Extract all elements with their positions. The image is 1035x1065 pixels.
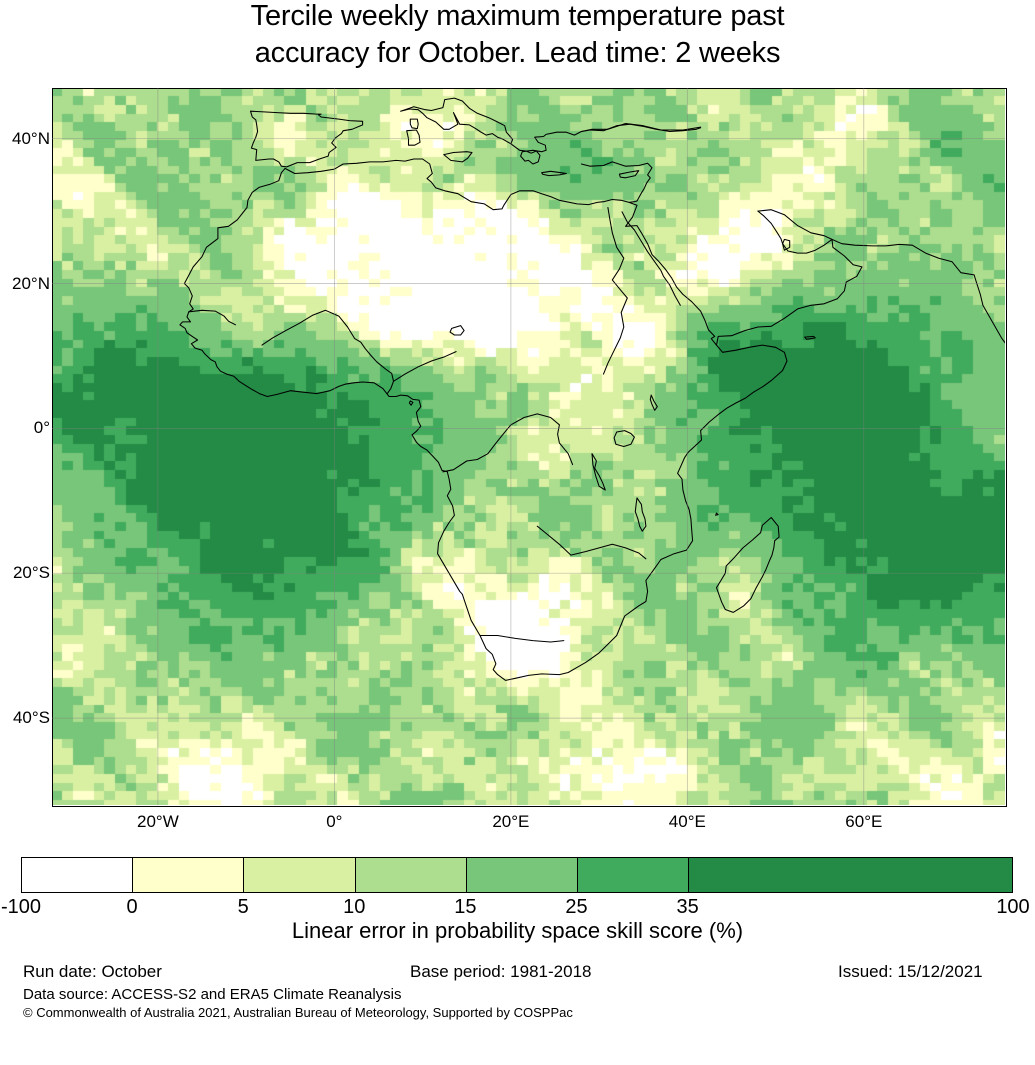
footer-issued-date: Issued: 15/12/2021 — [838, 962, 983, 982]
colorbar-segment — [132, 858, 243, 892]
graticule-gridlines — [52, 88, 1005, 805]
footer-base-period: Base period: 1981-2018 — [410, 962, 591, 982]
latitude-tick-label: 40°S — [0, 708, 50, 728]
footer-data-source: Data source: ACCESS-S2 and ERA5 Climate … — [23, 986, 402, 1003]
colorbar-label: Linear error in probability space skill … — [0, 918, 1035, 944]
colorbar-tick-label: -100 — [0, 896, 71, 919]
page-title-line-2: accuracy for October. Lead time: 2 weeks — [0, 35, 1035, 72]
longitude-tick-label: 20°E — [466, 812, 556, 832]
colorbar-tick-label: 15 — [415, 896, 515, 919]
colorbar-tick-label: 100 — [963, 896, 1035, 919]
longitude-tick-label: 40°E — [642, 812, 732, 832]
longitude-tick-label: 0° — [289, 812, 379, 832]
colorbar-segment — [22, 858, 132, 892]
colorbar-segment — [466, 858, 577, 892]
latitude-tick-label: 40°N — [0, 129, 50, 149]
colorbar-tick-label: 25 — [527, 896, 627, 919]
longitude-tick-label: 20°W — [113, 812, 203, 832]
colorbar-tick-label: 10 — [304, 896, 404, 919]
page-title: Tercile weekly maximum temperature past … — [0, 0, 1035, 72]
colorbar-segment — [577, 858, 688, 892]
colorbar[interactable] — [21, 857, 1013, 893]
colorbar-segment — [243, 858, 354, 892]
longitude-tick-label: 60°E — [819, 812, 909, 832]
colorbar-tick-label: 0 — [82, 896, 182, 919]
colorbar-tick-label: 35 — [638, 896, 738, 919]
latitude-tick-label: 20°S — [0, 563, 50, 583]
page-title-line-1: Tercile weekly maximum temperature past — [0, 0, 1035, 35]
colorbar-tick-label: 5 — [193, 896, 293, 919]
footer-copyright: © Commonwealth of Australia 2021, Austra… — [23, 1005, 573, 1020]
map-plot-area[interactable] — [52, 88, 1005, 805]
footer-run-date: Run date: October — [23, 962, 162, 982]
forecast-skill-map-page: Tercile weekly maximum temperature past … — [0, 0, 1035, 1065]
latitude-tick-label: 20°N — [0, 274, 50, 294]
colorbar-segment — [688, 858, 1012, 892]
colorbar-segment — [355, 858, 466, 892]
latitude-tick-label: 0° — [0, 418, 50, 438]
